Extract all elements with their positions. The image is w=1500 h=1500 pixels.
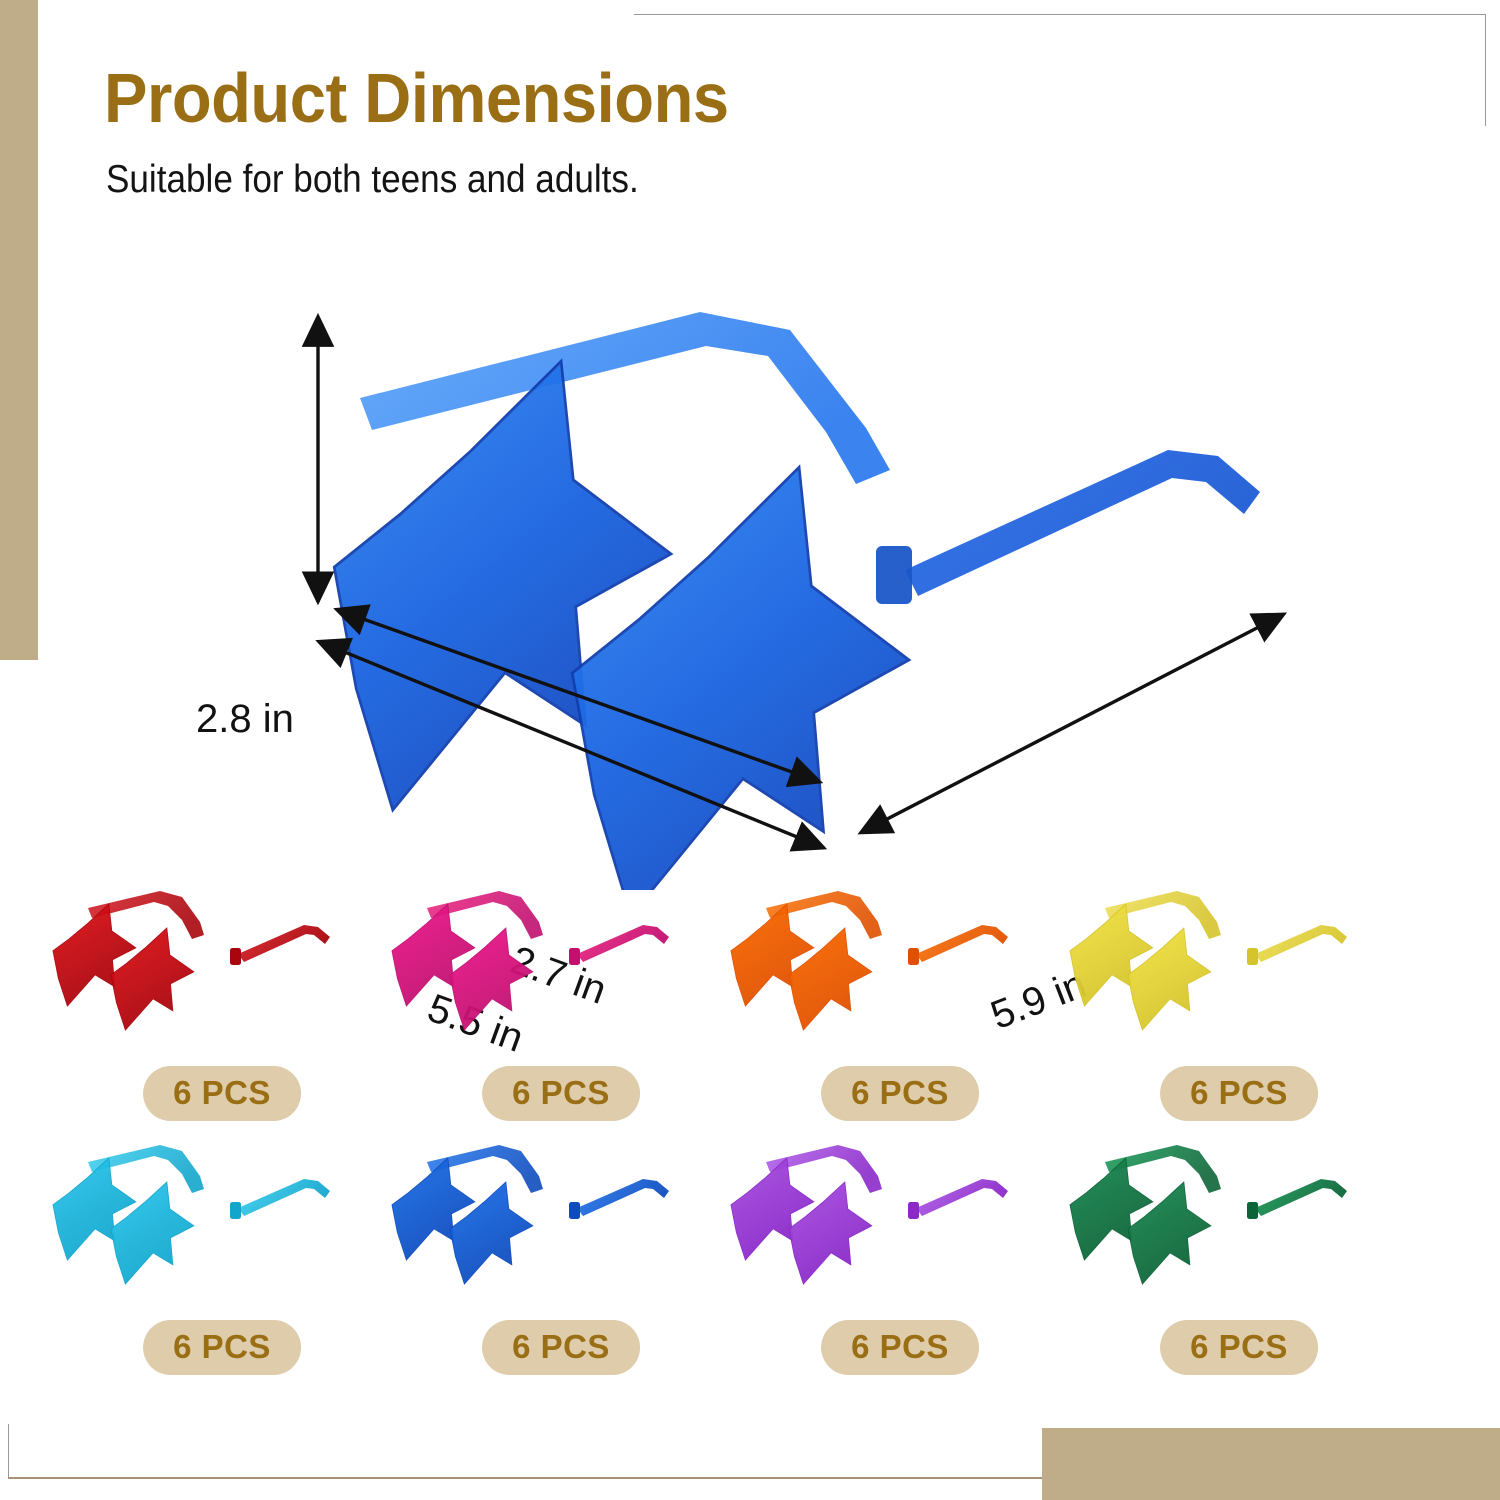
bottom-left-corner-rule-vertical	[8, 1424, 9, 1478]
quantity-badge-green: 6 PCS	[1160, 1320, 1318, 1375]
quantity-badge-red: 6 PCS	[143, 1066, 301, 1121]
color-variant-yellow[interactable]: 6 PCS	[1059, 880, 1419, 1140]
sunglasses-art-red	[42, 880, 402, 1060]
page-subtitle: Suitable for both teens and adults.	[106, 158, 639, 202]
quantity-badge-pink: 6 PCS	[482, 1066, 640, 1121]
sunglasses-icon-green	[1059, 1134, 1419, 1314]
sunglasses-art-pink	[381, 880, 741, 1060]
sunglasses-art-yellow	[1059, 880, 1419, 1060]
bottom-right-accent-block	[1042, 1428, 1500, 1500]
color-variant-pink[interactable]: 6 PCS	[381, 880, 741, 1140]
product-dimension-diagram: 2.8 in 2.7 in 5.5 in 5.9 in	[0, 270, 1500, 890]
sunglasses-icon-red	[42, 880, 402, 1060]
quantity-badge-orange: 6 PCS	[821, 1066, 979, 1121]
color-variant-grid: 6 PCS6 PCS6 PCS6 PCS6 PCS6 PCS6 PCS6 PCS	[0, 880, 1500, 1420]
sunglasses-icon-orange	[720, 880, 1080, 1060]
sunglasses-illustration	[0, 270, 1500, 890]
sunglasses-art-blue	[381, 1134, 741, 1314]
color-variant-green[interactable]: 6 PCS	[1059, 1134, 1419, 1394]
sunglasses-icon-purple	[720, 1134, 1080, 1314]
sunglasses-icon-pink	[381, 880, 741, 1060]
quantity-badge-blue: 6 PCS	[482, 1320, 640, 1375]
sunglasses-art-orange	[720, 880, 1080, 1060]
sunglasses-art-light-blue	[42, 1134, 402, 1314]
page-title: Product Dimensions	[104, 58, 729, 138]
color-variant-red[interactable]: 6 PCS	[42, 880, 402, 1140]
color-variant-light-blue[interactable]: 6 PCS	[42, 1134, 402, 1394]
color-variant-blue[interactable]: 6 PCS	[381, 1134, 741, 1394]
quantity-badge-purple: 6 PCS	[821, 1320, 979, 1375]
top-right-corner-rule-vertical	[1485, 14, 1486, 126]
quantity-badge-light-blue: 6 PCS	[143, 1320, 301, 1375]
top-right-corner-rule	[634, 14, 1486, 15]
color-variant-purple[interactable]: 6 PCS	[720, 1134, 1080, 1394]
color-variant-orange[interactable]: 6 PCS	[720, 880, 1080, 1140]
sunglasses-icon-yellow	[1059, 880, 1419, 1060]
quantity-badge-yellow: 6 PCS	[1160, 1066, 1318, 1121]
sunglasses-art-purple	[720, 1134, 1080, 1314]
dimension-line-temple-length	[862, 614, 1284, 832]
sunglasses-icon-blue	[381, 1134, 741, 1314]
sunglasses-icon-light-blue	[42, 1134, 402, 1314]
dimension-label-height: 2.8 in	[196, 697, 294, 742]
sunglasses-art-green	[1059, 1134, 1419, 1314]
bottom-rule	[8, 1477, 1044, 1479]
